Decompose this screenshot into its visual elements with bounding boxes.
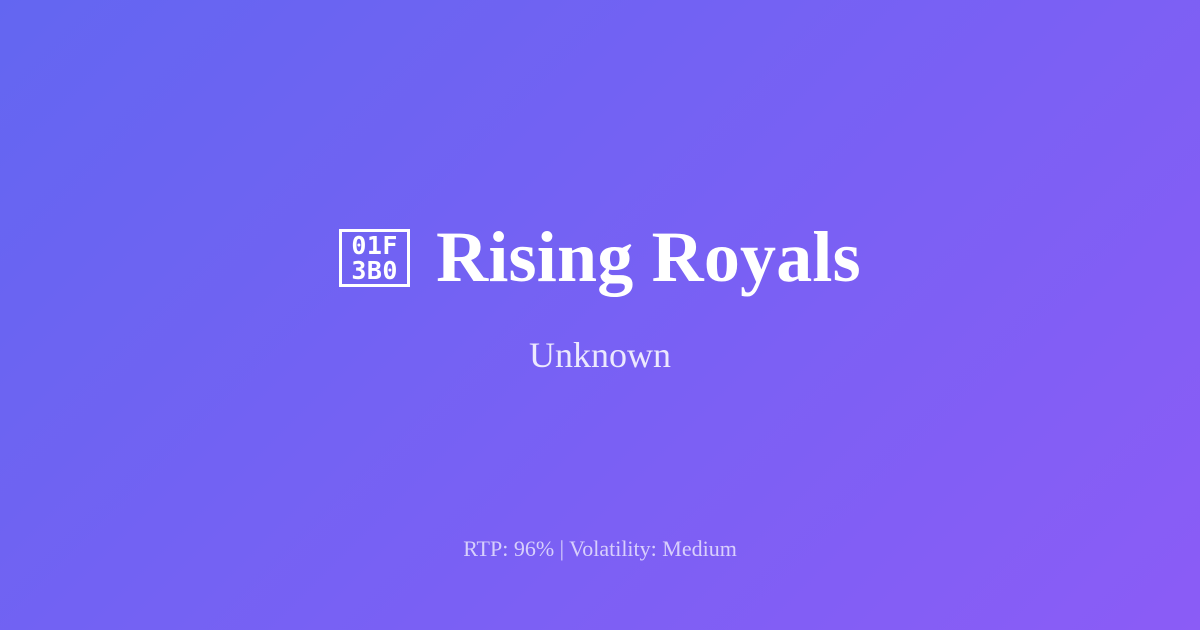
game-preview-card: 01F 3B0 Rising Royals Unknown RTP: 96% |… — [0, 0, 1200, 630]
game-provider: Unknown — [529, 336, 671, 376]
slot-machine-icon-hex-bottom: 3B0 — [351, 258, 398, 283]
hero-block: 01F 3B0 Rising Royals Unknown — [339, 220, 861, 375]
game-title: Rising Royals — [436, 220, 861, 295]
slot-machine-icon-hex-top: 01F — [351, 233, 398, 258]
title-row: 01F 3B0 Rising Royals — [339, 220, 861, 295]
slot-machine-icon: 01F 3B0 — [339, 229, 410, 287]
game-meta-line: RTP: 96% | Volatility: Medium — [0, 536, 1200, 562]
